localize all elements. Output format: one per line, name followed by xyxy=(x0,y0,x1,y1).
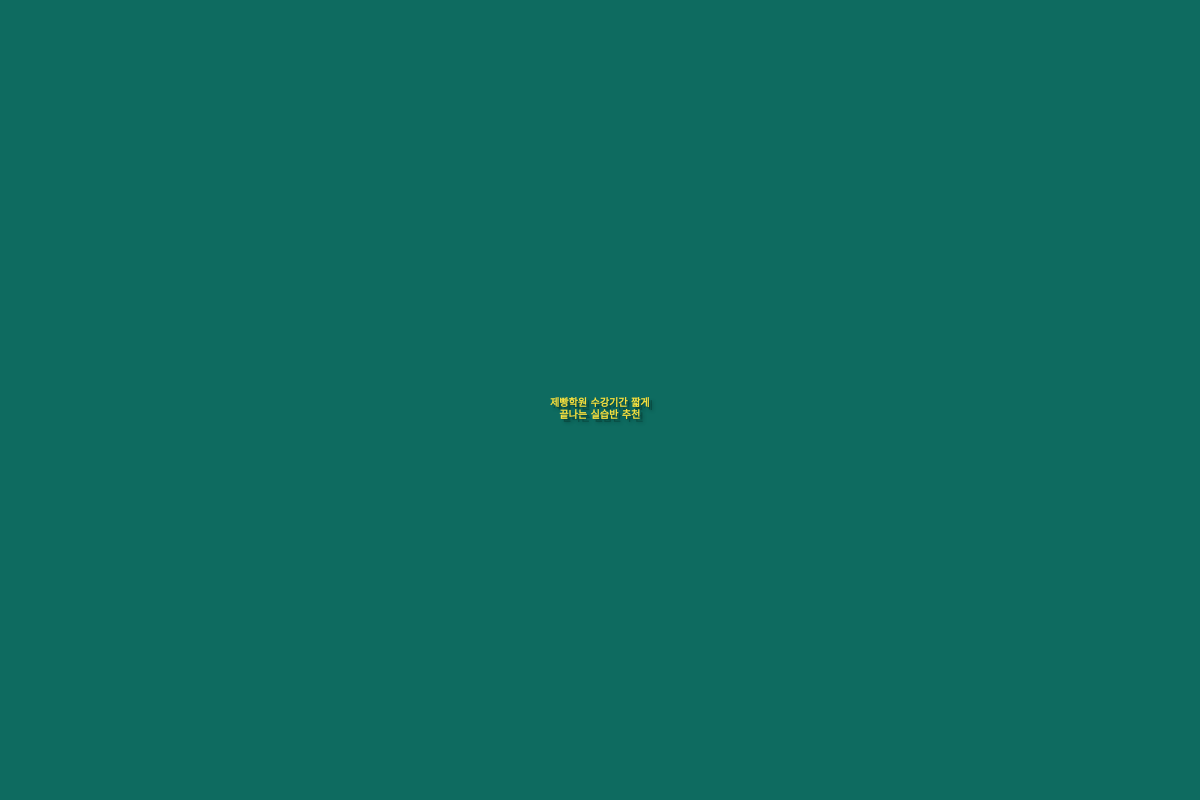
headline-line-2: 끝나는 실습반 추천 xyxy=(0,410,1200,422)
headline-block: 제빵학원 수강기간 짧게 끝나는 실습반 추천 xyxy=(0,398,1200,422)
banner-canvas: 제빵학원 수강기간 짧게 끝나는 실습반 추천 xyxy=(0,0,1200,800)
headline-line-1: 제빵학원 수강기간 짧게 xyxy=(0,398,1200,410)
